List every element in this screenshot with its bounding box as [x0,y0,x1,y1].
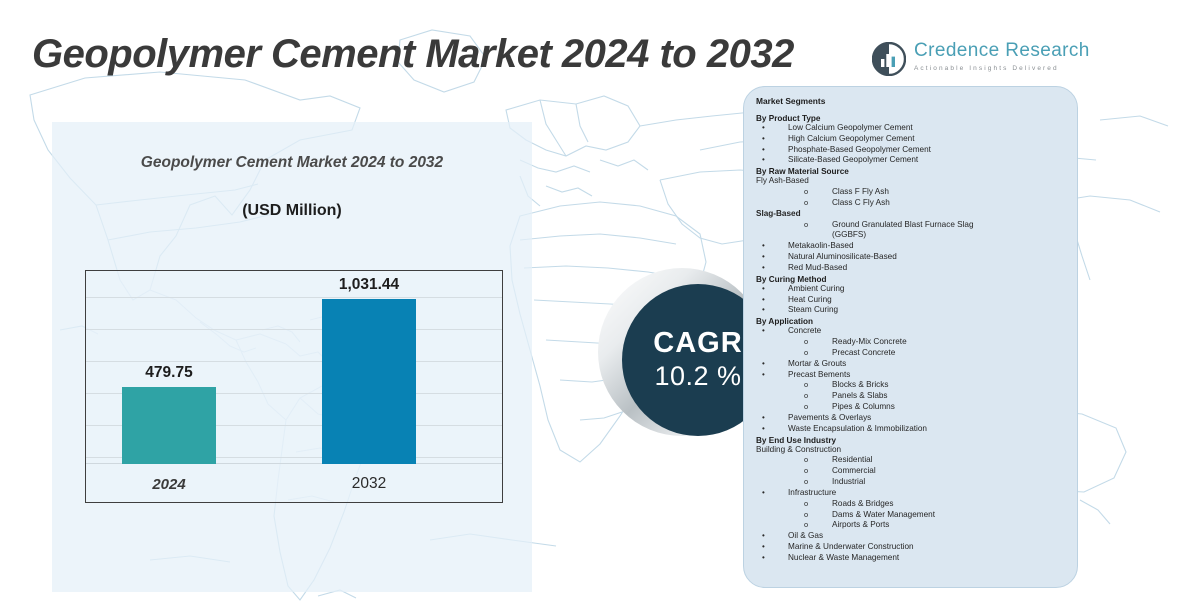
sub-bullet-icon: o [804,220,808,230]
segment-item: Fly Ash-Based [756,176,1067,187]
segment-item: •Nuclear & Waste Management [756,553,1067,564]
segment-item: •Ambient Curing [756,284,1067,295]
segment-item: oRoads & Bridges [756,499,1067,510]
bar-category-2032: 2032 [322,475,416,493]
segment-subitem-label: Ready-Mix Concrete [832,337,907,346]
segment-subitem-label-cont: (GGBFS) [832,230,1067,241]
segment-item: •Low Calcium Geopolymer Cement [756,123,1067,134]
segment-item: oResidential [756,455,1067,466]
segment-item-label: Marine & Underwater Construction [788,542,914,551]
infographic-canvas: Geopolymer Cement Market 2024 to 2032 Cr… [0,0,1177,615]
bullet-icon: • [762,145,765,156]
bullet-icon: • [762,263,765,274]
segment-subitem-label: Precast Concrete [832,348,895,357]
bullet-icon: • [762,252,765,263]
segment-item: •Metakaolin-Based [756,241,1067,252]
segment-item: oBlocks & Bricks [756,380,1067,391]
sub-bullet-icon: o [804,337,808,347]
segment-group-heading: By Curing Method [756,275,1067,284]
bullet-icon: • [762,413,765,424]
segment-item-label: Metakaolin-Based [788,241,854,250]
bullet-icon: • [762,241,765,252]
segment-item: •High Calcium Geopolymer Cement [756,134,1067,145]
market-segments-panel: Market Segments By Product Type•Low Calc… [743,86,1078,588]
sub-bullet-icon: o [804,380,808,390]
segment-group-heading: By Raw Material Source [756,167,1067,176]
segment-item: oPanels & Slabs [756,391,1067,402]
market-segments-heading: Market Segments [756,96,1067,106]
segment-item: •Natural Aluminosilicate-Based [756,252,1067,263]
segment-item: •Waste Encapsulation & Immobilization [756,424,1067,435]
segment-subitem-label: Dams & Water Management [832,510,935,519]
segment-item: •Phosphate-Based Geopolymer Cement [756,145,1067,156]
segment-item: •Pavements & Overlays [756,413,1067,424]
segment-item-label: Low Calcium Geopolymer Cement [788,123,913,132]
bullet-icon: • [762,488,765,499]
bar-value-2032: 1,031.44 [318,276,420,294]
cagr-value: 10.2 % [654,361,741,392]
segment-item: oGround Granulated Blast Furnace Slag(GG… [756,220,1067,242]
segment-groups: By Product Type•Low Calcium Geopolymer C… [756,114,1067,564]
segment-item: oDams & Water Management [756,510,1067,521]
bullet-icon: • [762,123,765,134]
segment-item-label: Oil & Gas [788,531,823,540]
segment-item-label: High Calcium Geopolymer Cement [788,134,915,143]
segment-item-label: Ambient Curing [788,284,844,293]
segment-item-label: Mortar & Grouts [788,359,846,368]
bullet-icon: • [762,531,765,542]
sub-bullet-icon: o [804,198,808,208]
segment-subitem-label: Class C Fly Ash [832,198,890,207]
sub-bullet-icon: o [804,455,808,465]
segment-group-heading: By End Use Industry [756,436,1067,445]
segment-subitem-label: Airports & Ports [832,520,889,529]
segment-subitem-label: Industrial [832,477,865,486]
segment-group-heading: By Application [756,317,1067,326]
segment-subitem-label: Blocks & Bricks [832,380,888,389]
segment-item: oPipes & Columns [756,402,1067,413]
sub-bullet-icon: o [804,477,808,487]
brand-logo: Credence Research Actionable Insights De… [872,40,1072,82]
cagr-label: CAGR [653,328,742,358]
segment-item: •Marine & Underwater Construction [756,542,1067,553]
segment-subitem-label: Residential [832,455,873,464]
segment-item-label: Natural Aluminosilicate-Based [788,252,897,261]
bullet-icon: • [762,295,765,306]
segment-item: oPrecast Concrete [756,348,1067,359]
market-segments-list: Market Segments By Product Type•Low Calc… [744,87,1077,570]
segment-item: •Heat Curing [756,295,1067,306]
segment-item: oAirports & Ports [756,520,1067,531]
bullet-icon: • [762,155,765,166]
segment-item: •Steam Curing [756,305,1067,316]
segment-item: •Red Mud-Based [756,263,1067,274]
segment-item: oCommercial [756,466,1067,477]
sub-bullet-icon: o [804,466,808,476]
chart-subtitle: (USD Million) [52,202,532,220]
logo-text-block: Credence Research Actionable Insights De… [914,40,1090,72]
segment-item-label: Precast Bements [788,370,850,379]
segment-group-heading: By Product Type [756,114,1067,123]
segment-item: •Concrete [756,326,1067,337]
segment-item-label: Nuclear & Waste Management [788,553,899,562]
segment-item: •Oil & Gas [756,531,1067,542]
segment-item: Building & Construction [756,445,1067,456]
segment-subitem-label: Pipes & Columns [832,402,895,411]
segment-item: •Mortar & Grouts [756,359,1067,370]
segment-item: oClass C Fly Ash [756,198,1067,209]
segment-item-label: Heat Curing [788,295,832,304]
segment-item-label: Infrastructure [788,488,836,497]
bar-value-2024: 479.75 [122,364,216,382]
segment-subitem-label: Class F Fly Ash [832,187,889,196]
sub-bullet-icon: o [804,520,808,530]
bullet-icon: • [762,326,765,337]
segment-item-label: Waste Encapsulation & Immobilization [788,424,927,433]
bar-chart-plot: 479.75 2024 1,031.44 2032 [85,270,503,503]
bullet-icon: • [762,134,765,145]
segment-item-label: Red Mud-Based [788,263,847,272]
bullet-icon: • [762,370,765,381]
sub-bullet-icon: o [804,348,808,358]
segment-item-label: Concrete [788,326,821,335]
bullet-icon: • [762,284,765,295]
bar-2032 [322,299,416,464]
chart-title: Geopolymer Cement Market 2024 to 2032 [52,154,532,172]
segment-item: •Precast Bements [756,370,1067,381]
bullet-icon: • [762,553,765,564]
page-title: Geopolymer Cement Market 2024 to 2032 [32,32,794,77]
bar-category-2024: 2024 [122,476,216,493]
segment-subitem-label: Ground Granulated Blast Furnace Slag [832,220,974,229]
segment-item: Slag-Based [756,209,1067,220]
segment-item-label: Silicate-Based Geopolymer Cement [788,155,918,164]
sub-bullet-icon: o [804,402,808,412]
segment-item-label: Phosphate-Based Geopolymer Cement [788,145,931,154]
chart-card: Geopolymer Cement Market 2024 to 2032 (U… [52,122,532,592]
sub-bullet-icon: o [804,510,808,520]
bullet-icon: • [762,424,765,435]
sub-bullet-icon: o [804,499,808,509]
bullet-icon: • [762,305,765,316]
sub-bullet-icon: o [804,391,808,401]
logo-name: Credence Research [914,40,1090,62]
segment-subitem-label: Roads & Bridges [832,499,893,508]
bar-chart-circle-icon [872,42,906,76]
segment-item-label: Steam Curing [788,305,838,314]
bar-2024 [122,387,216,464]
segment-item: oClass F Fly Ash [756,187,1067,198]
logo-tagline: Actionable Insights Delivered [914,65,1090,72]
segment-item-label: Pavements & Overlays [788,413,871,422]
segment-subitem-label: Commercial [832,466,876,475]
segment-item: oReady-Mix Concrete [756,337,1067,348]
segment-item: oIndustrial [756,477,1067,488]
segment-item: •Infrastructure [756,488,1067,499]
bullet-icon: • [762,359,765,370]
segment-item: •Silicate-Based Geopolymer Cement [756,155,1067,166]
segment-subitem-label: Panels & Slabs [832,391,888,400]
sub-bullet-icon: o [804,187,808,197]
bullet-icon: • [762,542,765,553]
